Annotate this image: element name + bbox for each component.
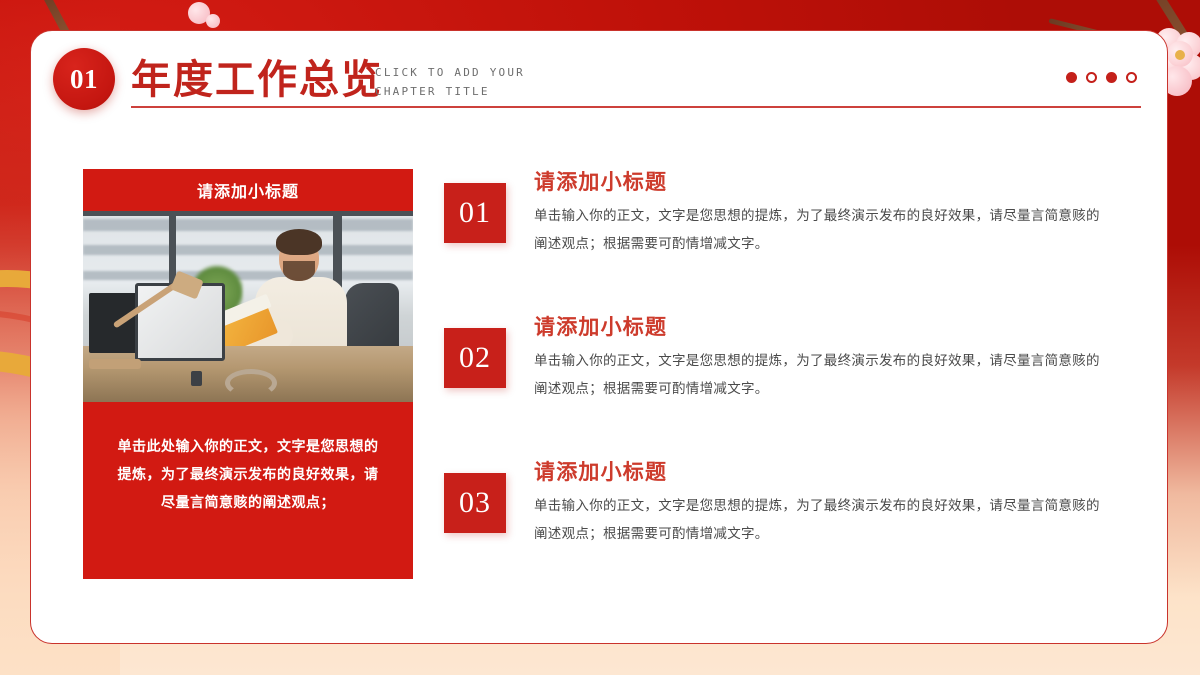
chapter-subtitle-line-2: CHAPTER TITLE bbox=[375, 82, 525, 101]
photo-building-band bbox=[83, 245, 413, 255]
list-item-title: 请添加小标题 bbox=[534, 169, 1134, 195]
photo-headphones bbox=[225, 369, 277, 397]
chapter-subtitle: CLICK TO ADD YOUR CHAPTER TITLE bbox=[375, 63, 525, 101]
list-item-number: 03 bbox=[459, 486, 491, 520]
chapter-number-text: 01 bbox=[70, 64, 98, 95]
photo-building-band bbox=[83, 219, 413, 231]
chapter-number-badge: 01 bbox=[53, 48, 115, 110]
photo-desk-lamp-base bbox=[89, 359, 141, 369]
list-item-description: 单击输入你的正文，文字是您思想的提炼，为了最终演示发布的良好效果，请尽量言简意赅… bbox=[534, 202, 1104, 258]
photo-cup bbox=[191, 371, 202, 386]
header-divider bbox=[131, 106, 1141, 108]
content-list: 01 请添加小标题 单击输入你的正文，文字是您思想的提炼，为了最终演示发布的良好… bbox=[444, 169, 1134, 604]
list-item[interactable]: 01 请添加小标题 单击输入你的正文，文字是您思想的提炼，为了最终演示发布的良好… bbox=[444, 169, 1134, 258]
page-title: 年度工作总览 bbox=[131, 56, 383, 104]
slide-content-card: 01 年度工作总览 CLICK TO ADD YOUR CHAPTER TITL… bbox=[30, 30, 1168, 644]
list-item-body: 请添加小标题 单击输入你的正文，文字是您思想的提炼，为了最终演示发布的良好效果，… bbox=[506, 169, 1134, 258]
list-item-description: 单击输入你的正文，文字是您思想的提炼，为了最终演示发布的良好效果，请尽量言简意赅… bbox=[534, 347, 1104, 403]
list-item-title: 请添加小标题 bbox=[534, 314, 1134, 340]
media-card: 请添加小标题 bbox=[83, 169, 413, 579]
media-card-banner: 请添加小标题 bbox=[83, 169, 413, 211]
list-item-title: 请添加小标题 bbox=[534, 459, 1134, 485]
pager-dots[interactable] bbox=[1066, 72, 1137, 83]
blossom-center bbox=[1175, 50, 1185, 60]
slide-canvas: 01 年度工作总览 CLICK TO ADD YOUR CHAPTER TITL… bbox=[0, 0, 1200, 675]
media-card-banner-title: 请添加小标题 bbox=[197, 178, 299, 202]
list-item[interactable]: 03 请添加小标题 单击输入你的正文，文字是您思想的提炼，为了最终演示发布的良好… bbox=[444, 459, 1134, 548]
blossom-bud bbox=[206, 14, 220, 28]
list-item[interactable]: 02 请添加小标题 单击输入你的正文，文字是您思想的提炼，为了最终演示发布的良好… bbox=[444, 314, 1134, 403]
chapter-subtitle-line-1: CLICK TO ADD YOUR bbox=[375, 63, 525, 82]
photo-window-mullion bbox=[83, 211, 413, 216]
pager-dot-2[interactable] bbox=[1086, 72, 1097, 83]
list-item-body: 请添加小标题 单击输入你的正文，文字是您思想的提炼，为了最终演示发布的良好效果，… bbox=[506, 459, 1134, 548]
photo-person-beard bbox=[283, 261, 315, 281]
pager-dot-3[interactable] bbox=[1106, 72, 1117, 83]
list-item-number-box: 03 bbox=[444, 473, 506, 533]
list-item-description: 单击输入你的正文，文字是您思想的提炼，为了最终演示发布的良好效果，请尽量言简意赅… bbox=[534, 492, 1104, 548]
pager-dot-1[interactable] bbox=[1066, 72, 1077, 83]
photo-monitor-primary bbox=[135, 283, 225, 361]
photo-person-hair bbox=[276, 229, 322, 255]
list-item-body: 请添加小标题 单击输入你的正文，文字是您思想的提炼，为了最终演示发布的良好效果，… bbox=[506, 314, 1134, 403]
list-item-number-box: 02 bbox=[444, 328, 506, 388]
media-card-photo bbox=[83, 211, 413, 402]
list-item-number: 01 bbox=[459, 196, 491, 230]
list-item-number: 02 bbox=[459, 341, 491, 375]
slide-header: 01 年度工作总览 CLICK TO ADD YOUR CHAPTER TITL… bbox=[31, 31, 1167, 139]
photo-building-band bbox=[83, 271, 413, 280]
pager-dot-4[interactable] bbox=[1126, 72, 1137, 83]
list-item-number-box: 01 bbox=[444, 183, 506, 243]
media-card-caption: 单击此处输入你的正文，文字是您思想的提炼，为了最终演示发布的良好效果，请尽量言简… bbox=[83, 402, 413, 579]
